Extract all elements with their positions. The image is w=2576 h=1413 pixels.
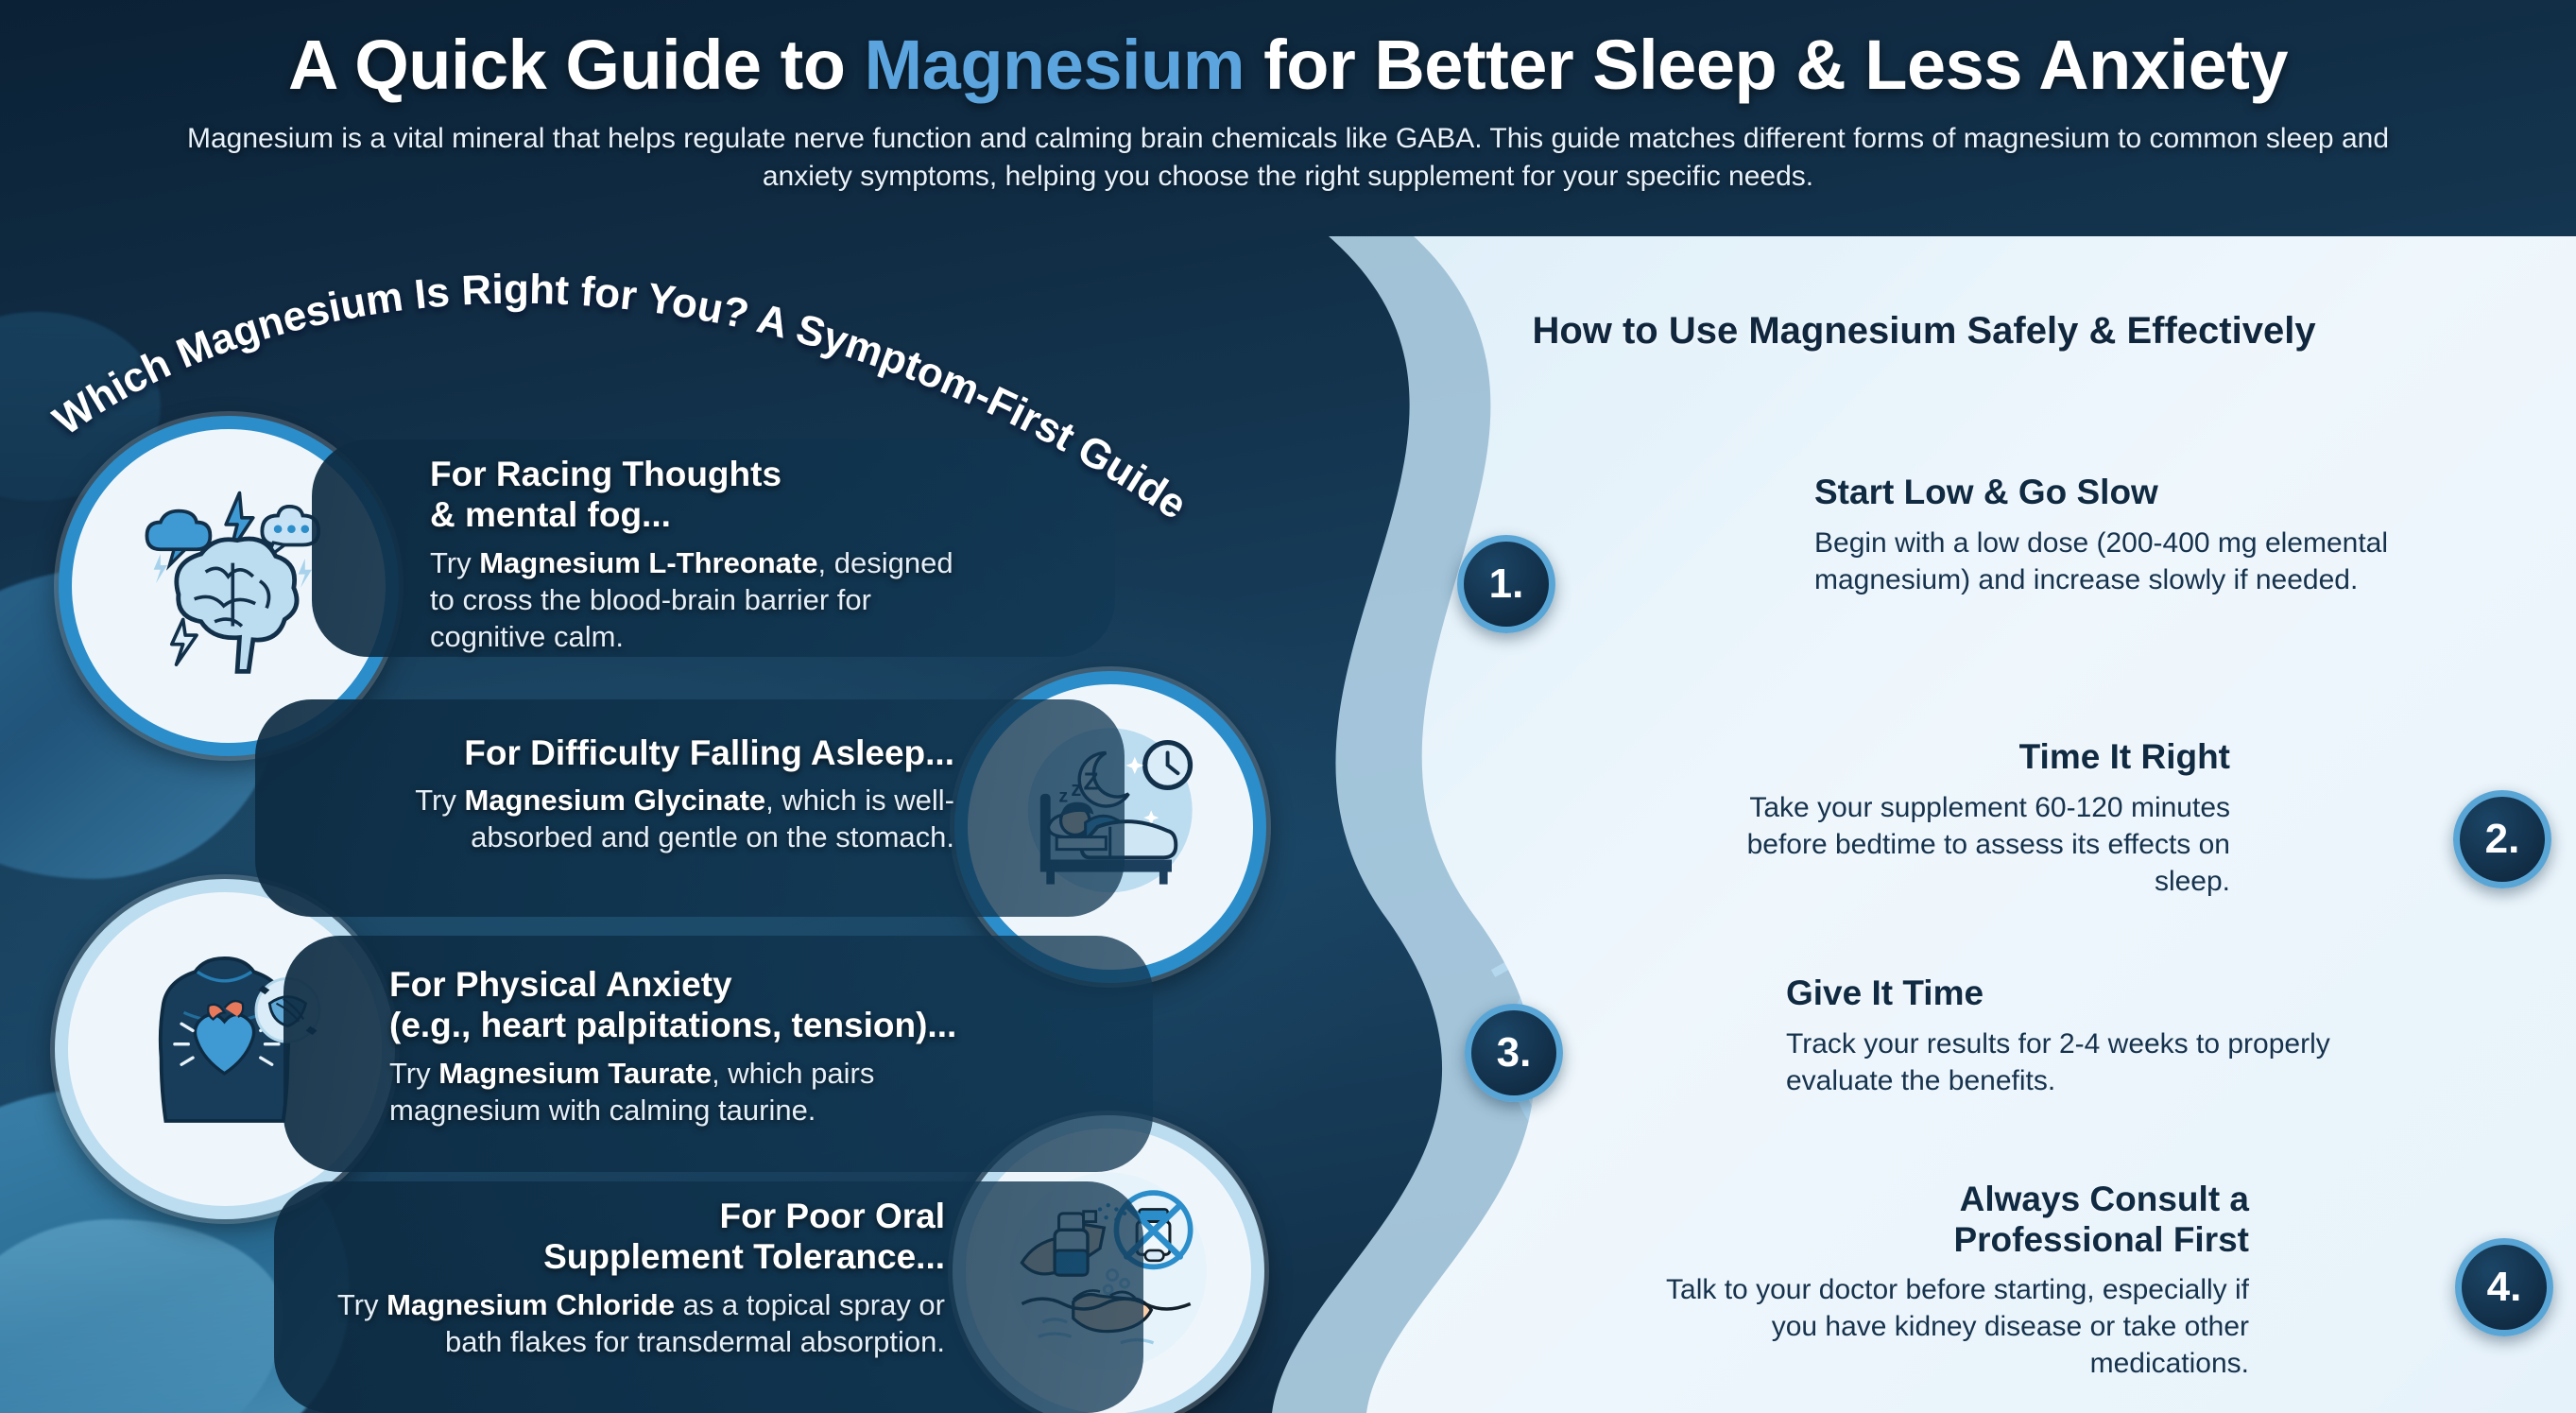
right-item-1-text: Start Low & Go Slow Begin with a low dos…	[1814, 473, 2400, 598]
left-item-3-body: Try Magnesium Taurate, which pairs magne…	[389, 1055, 994, 1129]
right-item-4-body: Talk to your doctor before starting, esp…	[1644, 1271, 2249, 1382]
page-subtitle: Magnesium is a vital mineral that helps …	[168, 120, 2408, 195]
step-number-3: 3.	[1465, 1004, 1563, 1102]
left-item-2-heading: For Difficulty Falling Asleep...	[350, 732, 954, 773]
right-item-2-text: Time It Right Take your supplement 60-12…	[1701, 737, 2230, 900]
step-number-1: 1.	[1457, 535, 1555, 633]
right-item-1-body: Begin with a low dose (200-400 mg elemen…	[1814, 525, 2400, 598]
left-item-3-heading-line1: For Physical Anxiety	[389, 965, 732, 1004]
left-item-3-text: For Physical Anxiety (e.g., heart palpit…	[389, 964, 994, 1129]
decorative-blob	[0, 1219, 283, 1413]
left-heading-text: Which Magnesium Is Right for You? A Symp…	[45, 267, 1195, 528]
left-panel-heading: Which Magnesium Is Right for You? A Symp…	[38, 227, 1380, 586]
right-item-2-body: Take your supplement 60-120 minutes befo…	[1701, 789, 2230, 900]
left-item-3-heading: For Physical Anxiety (e.g., heart palpit…	[389, 964, 994, 1046]
right-item-4-heading-line2: Professional First	[1953, 1220, 2249, 1259]
left-item-4-text: For Poor Oral Supplement Tolerance... Tr…	[283, 1196, 945, 1360]
title-pre: A Quick Guide to	[288, 26, 865, 104]
right-item-3-text: Give It Time Track your results for 2-4 …	[1786, 974, 2353, 1099]
infographic-poster: A Quick Guide to Magnesium for Better Sl…	[0, 0, 2576, 1413]
right-item-4-heading-line1: Always Consult a	[1960, 1180, 2249, 1218]
left-item-4-heading-line2: Supplement Tolerance...	[543, 1237, 945, 1276]
right-item-2-heading: Time It Right	[1701, 737, 2230, 778]
title-post: for Better Sleep & Less Anxiety	[1245, 26, 2288, 104]
header: A Quick Guide to Magnesium for Better Sl…	[0, 0, 2576, 236]
left-item-4-heading-line1: For Poor Oral	[720, 1197, 945, 1235]
right-item-3-heading: Give It Time	[1786, 974, 2353, 1014]
title-accent: Magnesium	[865, 26, 1245, 104]
left-item-3-heading-line2: (e.g., heart palpitations, tension)...	[389, 1006, 956, 1044]
right-item-3-body: Track your results for 2-4 weeks to prop…	[1786, 1025, 2353, 1099]
right-item-1-heading: Start Low & Go Slow	[1814, 473, 2400, 513]
right-item-4-heading: Always Consult a Professional First	[1644, 1180, 2249, 1260]
step-number-2: 2.	[2453, 790, 2551, 888]
left-item-4-heading: For Poor Oral Supplement Tolerance...	[283, 1196, 945, 1278]
left-item-4-body: Try Magnesium Chloride as a topical spra…	[283, 1286, 945, 1360]
left-item-2-text: For Difficulty Falling Asleep... Try Mag…	[350, 732, 954, 855]
page-title: A Quick Guide to Magnesium for Better Sl…	[0, 25, 2576, 105]
step-number-4: 4.	[2455, 1238, 2553, 1336]
left-item-2-body: Try Magnesium Glycinate, which is well-a…	[350, 782, 954, 855]
svg-text:Which Magnesium Is Right for Y: Which Magnesium Is Right for You? A Symp…	[45, 267, 1195, 528]
right-item-4-text: Always Consult a Professional First Talk…	[1644, 1180, 2249, 1382]
right-panel-heading: How to Use Magnesium Safely & Effectivel…	[1272, 310, 2576, 353]
